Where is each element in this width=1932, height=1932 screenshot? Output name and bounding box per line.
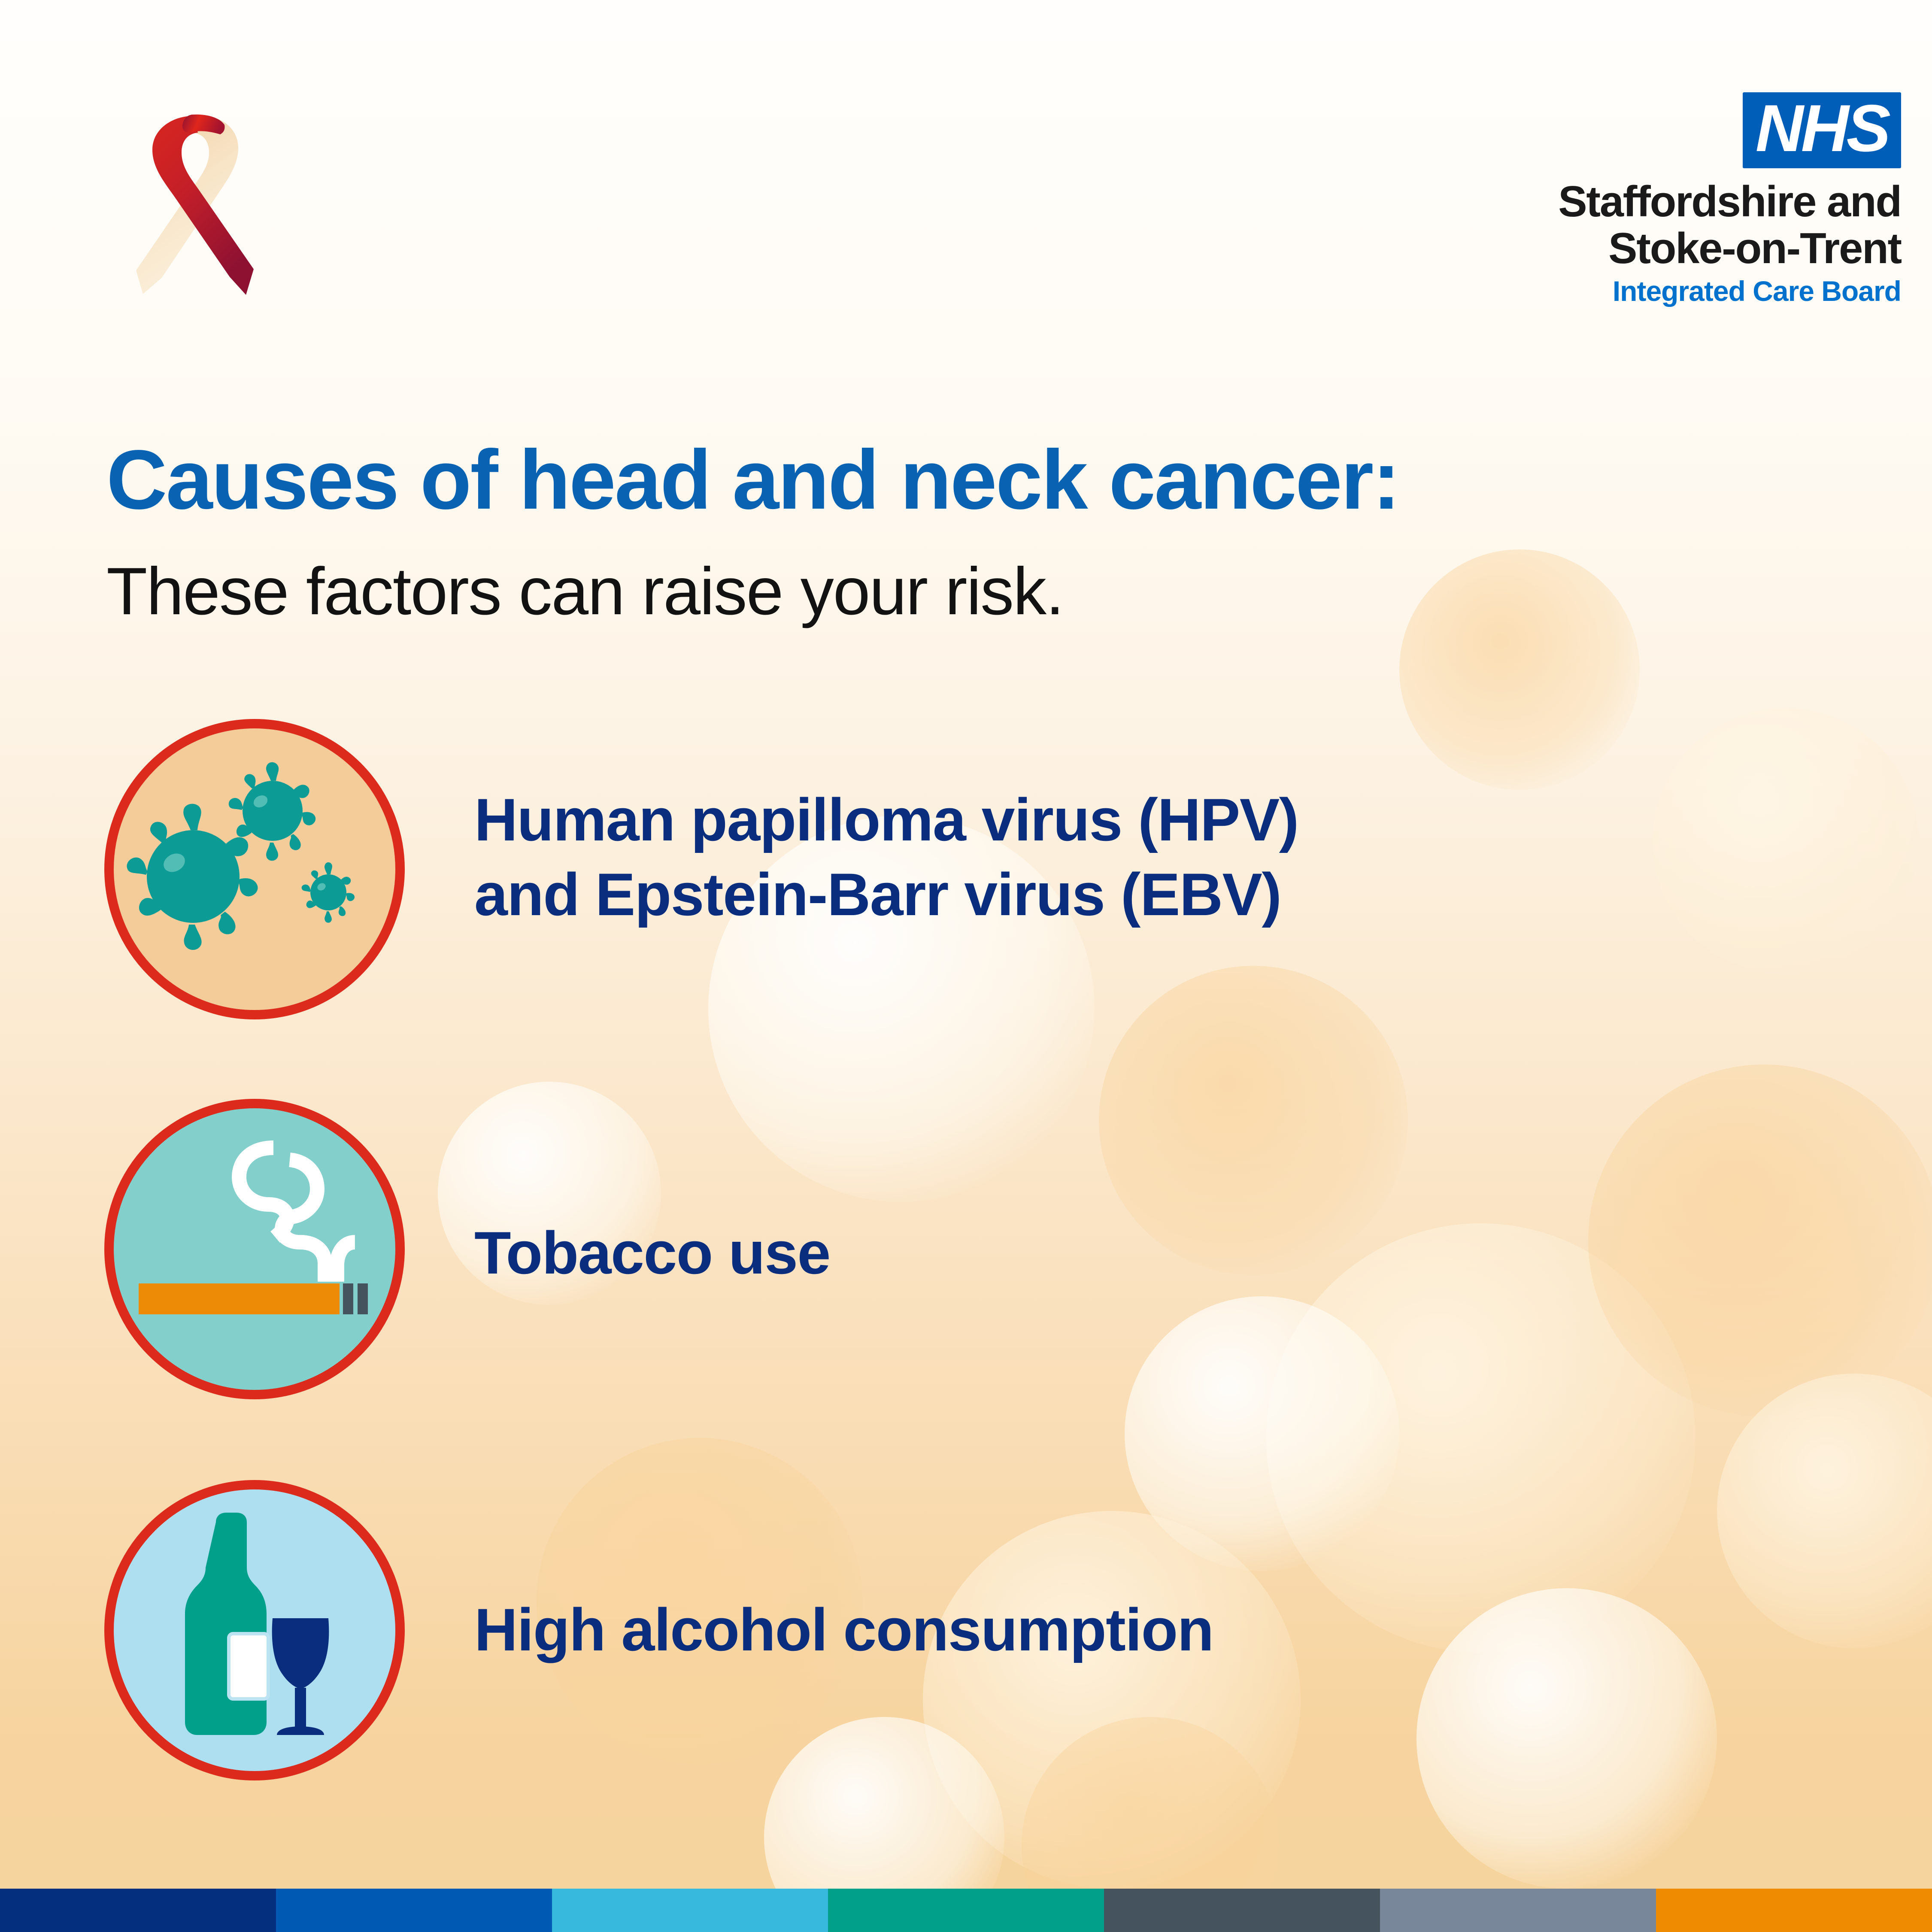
bokeh-circle	[1588, 1065, 1932, 1416]
risk-label: Human papilloma virus (HPV) and Epstein-…	[474, 783, 1298, 931]
bokeh-circle	[1125, 1296, 1399, 1571]
bokeh-circle	[1266, 1223, 1695, 1653]
trust-name-line-1: Staffordshire and	[1558, 179, 1901, 224]
bokeh-circle	[1717, 1374, 1932, 1648]
virus-icon	[104, 719, 405, 1019]
risk-label: Tobacco use	[474, 1216, 830, 1290]
awareness-ribbon-icon	[109, 92, 290, 315]
brand-colour-bar	[0, 1889, 1932, 1932]
infographic-poster: NHS Staffordshire and Stoke-on-Trent Int…	[0, 0, 1932, 1932]
nhs-wordmark: NHS	[1756, 95, 1888, 161]
nhs-logo-box: NHS	[1743, 92, 1901, 168]
bokeh-circle	[1399, 549, 1640, 790]
bokeh-circle	[1653, 708, 1919, 974]
bokeh-circle	[1099, 966, 1408, 1275]
bokeh-circle	[1416, 1588, 1717, 1889]
page-title: Causes of head and neck cancer:	[106, 438, 1399, 522]
integrated-care-board-label: Integrated Care Board	[1558, 276, 1901, 307]
colour-bar-segment	[276, 1889, 552, 1932]
colour-bar-segment	[1104, 1889, 1380, 1932]
alcohol-bottle-and-glass-icon	[104, 1480, 405, 1780]
colour-bar-segment	[1656, 1889, 1932, 1932]
bokeh-circle	[923, 1511, 1301, 1889]
colour-bar-segment	[0, 1889, 276, 1932]
nhs-logo: NHS Staffordshire and Stoke-on-Trent Int…	[1558, 92, 1901, 307]
colour-bar-segment	[552, 1889, 828, 1932]
cigarette-icon	[104, 1099, 405, 1399]
page-subtitle: These factors can raise your risk.	[106, 558, 1064, 625]
colour-bar-segment	[1380, 1889, 1656, 1932]
trust-name-line-2: Stoke-on-Trent	[1558, 226, 1901, 271]
risk-label: High alcohol consumption	[474, 1592, 1213, 1667]
colour-bar-segment	[828, 1889, 1104, 1932]
